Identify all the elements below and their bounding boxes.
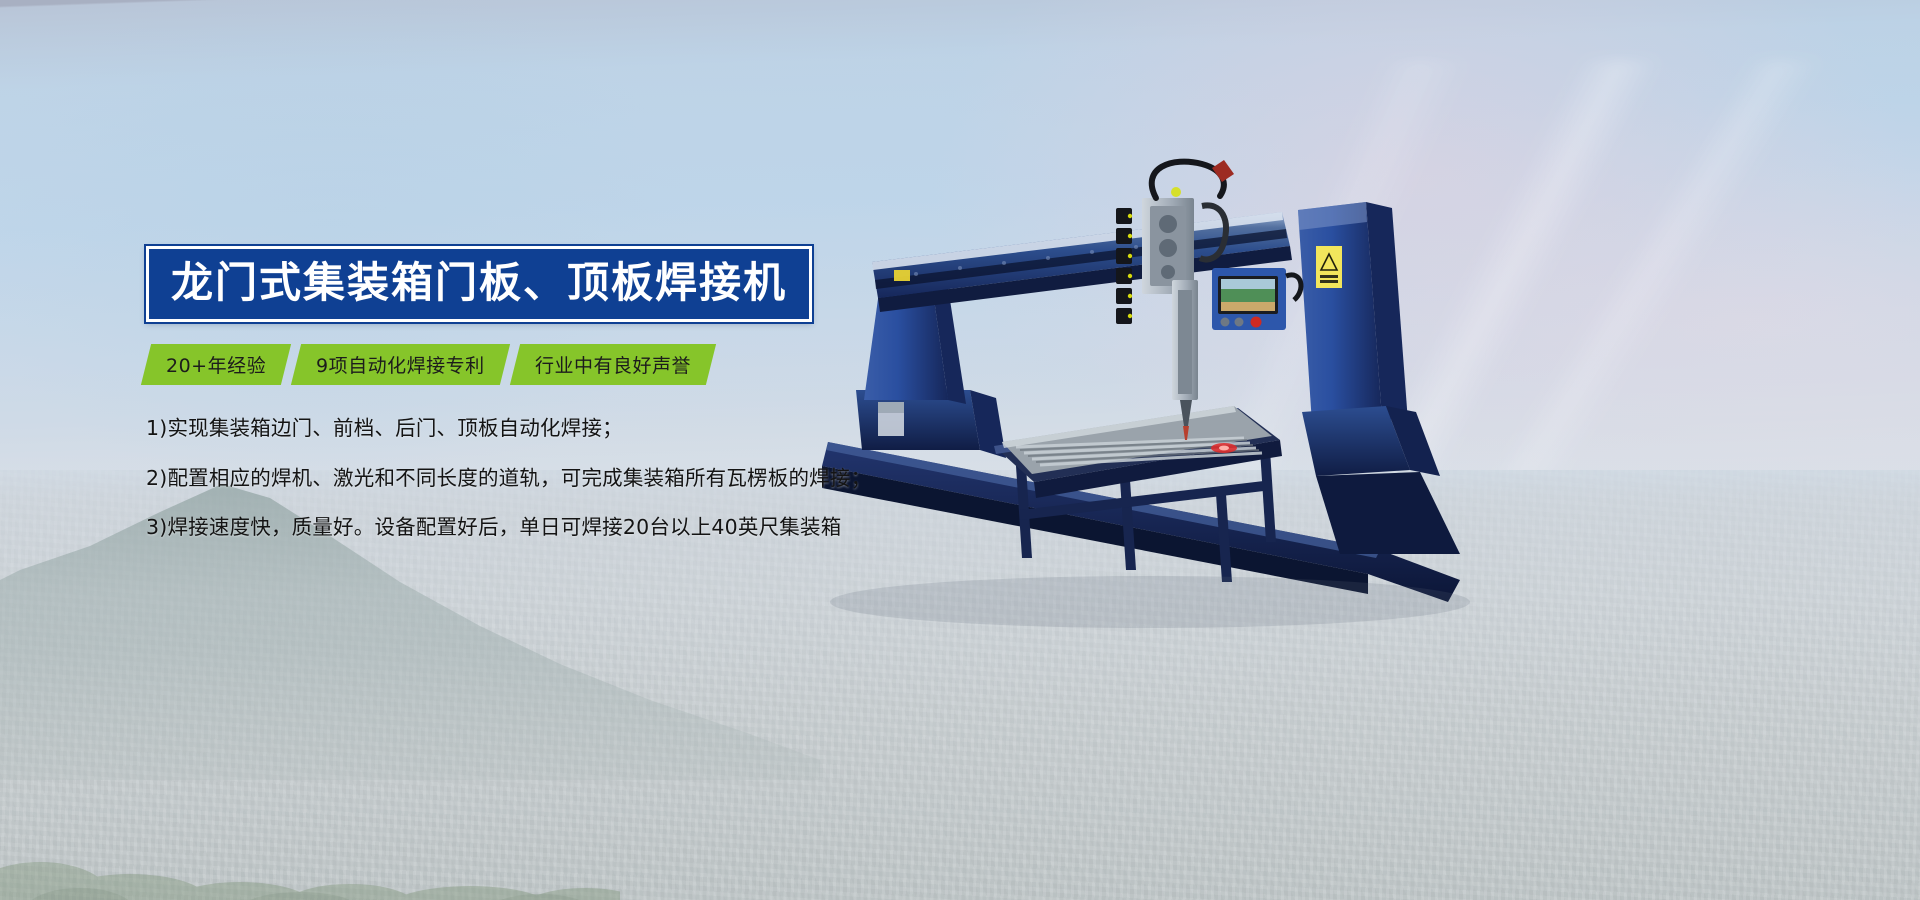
banner-title-box: 龙门式集装箱门板、顶板焊接机 bbox=[146, 246, 812, 322]
feature-tag-experience-label: 20+年经验 bbox=[166, 351, 266, 378]
hero-banner: 龙门式集装箱门板、顶板焊接机 20+年经验 9项自动化焊接专利 行业中有良好声誉… bbox=[0, 0, 1920, 900]
feature-tag-list: 20+年经验 9项自动化焊接专利 行业中有良好声誉 bbox=[146, 344, 1046, 385]
feature-bullet-2: 2)配置相应的焊机、激光和不同长度的道轨，可完成集装箱所有瓦楞板的焊接； bbox=[146, 467, 1046, 490]
feature-tag-experience: 20+年经验 bbox=[141, 344, 291, 385]
feature-tag-reputation: 行业中有良好声誉 bbox=[510, 344, 716, 385]
feature-bullet-3: 3)焊接速度快，质量好。设备配置好后，单日可焊接20台以上40英尺集装箱 bbox=[146, 516, 1046, 539]
page-title: 龙门式集装箱门板、顶板焊接机 bbox=[171, 259, 787, 306]
feature-tag-patents: 9项自动化焊接专利 bbox=[291, 344, 510, 385]
laser-weld-spot bbox=[1211, 443, 1237, 453]
machine-hmi-panel bbox=[1212, 268, 1301, 330]
machine-right-column bbox=[1298, 202, 1408, 424]
feature-bullet-list: 1)实现集装箱边门、前档、后门、顶板自动化焊接； 2)配置相应的焊机、激光和不同… bbox=[146, 417, 1046, 539]
feature-bullet-1: 1)实现集装箱边门、前档、后门、顶板自动化焊接； bbox=[146, 417, 1046, 440]
feature-tag-patents-label: 9项自动化焊接专利 bbox=[316, 351, 485, 378]
banner-content: 龙门式集装箱门板、顶板焊接机 20+年经验 9项自动化焊接专利 行业中有良好声誉… bbox=[146, 246, 1046, 539]
feature-tag-reputation-label: 行业中有良好声誉 bbox=[535, 351, 691, 378]
machine-right-base bbox=[1302, 406, 1460, 554]
foreground-foliage bbox=[0, 720, 620, 900]
